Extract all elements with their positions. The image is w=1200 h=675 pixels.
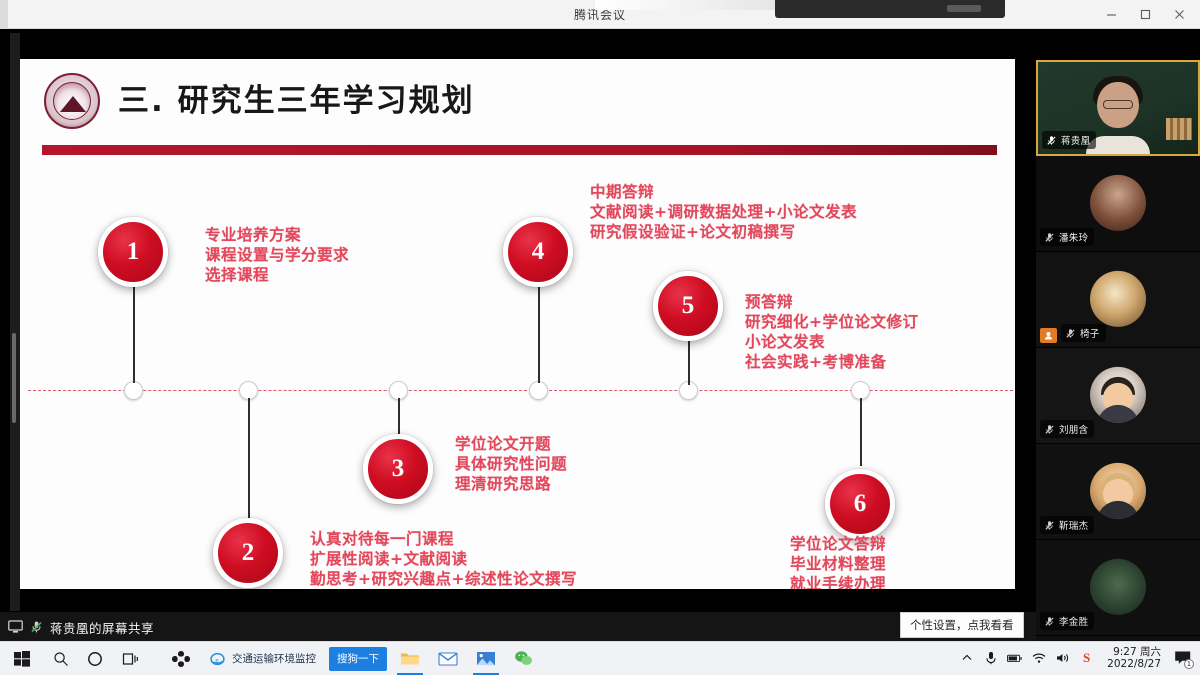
windows-start-icon[interactable] bbox=[0, 642, 44, 675]
participant-name-chip-4: 刘朋含 bbox=[1040, 420, 1094, 438]
taskbar-clock[interactable]: 9:27 周六 2022/8/27 bbox=[1107, 646, 1161, 670]
ie-tab-label: 交通运输环境监控 bbox=[232, 651, 316, 666]
active-window-tab[interactable]: 搜狗一下 bbox=[329, 647, 387, 671]
avatar-body bbox=[1097, 500, 1139, 518]
titlebar-overlay-chip-inner bbox=[947, 5, 981, 12]
participant-name-chip-2: 潘朱玲 bbox=[1040, 228, 1094, 246]
milestone-3-line-3: 理清研究思路 bbox=[455, 474, 567, 494]
titlebar-left-edge bbox=[0, 0, 8, 29]
monitor-icon bbox=[8, 620, 23, 634]
share-status-text: 蒋贵凰的屏幕共享 bbox=[50, 618, 154, 637]
milestone-circle-2[interactable]: 2 bbox=[213, 518, 283, 588]
participant-name-1: 蒋贵凰 bbox=[1061, 133, 1090, 147]
milestone-circle-1[interactable]: 1 bbox=[98, 217, 168, 287]
stage-left-edge bbox=[10, 33, 20, 611]
participant-tile-3[interactable]: 椅子 bbox=[1036, 252, 1200, 348]
slide-title: 三. 研究生三年学习规划 bbox=[118, 75, 475, 120]
milestone-4-line-1: 中期答辩 bbox=[590, 182, 857, 202]
clock-time: 9:27 周六 bbox=[1113, 646, 1161, 658]
milestone-2-line-2: 扩展性阅读+文献阅读 bbox=[310, 549, 577, 569]
battery-icon[interactable] bbox=[1007, 651, 1022, 666]
milestone-4-line-2: 文献阅读+调研数据处理+小论文发表 bbox=[590, 202, 857, 222]
system-tray: S 9:27 周六 2022/8/27 1 bbox=[959, 641, 1200, 675]
glasses-icon bbox=[1103, 100, 1133, 109]
milestone-circle-6[interactable]: 6 bbox=[825, 469, 895, 539]
crest-mountain-mark bbox=[60, 96, 86, 112]
mic-muted-icon bbox=[1046, 135, 1057, 146]
participant-name-chip-1: 蒋贵凰 bbox=[1042, 131, 1096, 149]
task-view-icon[interactable] bbox=[112, 642, 148, 675]
window-controls bbox=[1094, 0, 1196, 29]
milestone-circle-4[interactable]: 4 bbox=[503, 217, 573, 287]
shared-screen-stage: 三. 研究生三年学习规划 1 2 bbox=[10, 33, 1030, 611]
milestone-3-line-1: 学位论文开题 bbox=[455, 434, 567, 454]
screen-root: 腾讯会议 bbox=[0, 0, 1200, 675]
connector-1 bbox=[133, 287, 135, 383]
mic-muted-icon bbox=[1044, 232, 1055, 243]
milestone-number-3: 3 bbox=[392, 455, 405, 483]
connector-4 bbox=[538, 287, 540, 383]
bookshelf-decor bbox=[1166, 118, 1192, 140]
active-window-label: 搜狗一下 bbox=[337, 651, 379, 666]
network-icon[interactable] bbox=[1031, 651, 1046, 666]
clock-date: 2022/8/27 bbox=[1107, 658, 1161, 670]
titlebar-overlay-chip bbox=[775, 0, 1005, 18]
window-titlebar: 腾讯会议 bbox=[0, 0, 1200, 29]
open-indicator bbox=[473, 673, 499, 675]
slide-header: 三. 研究生三年学习规划 bbox=[20, 59, 1015, 139]
connector-6 bbox=[860, 398, 862, 466]
stage-scroll-nub[interactable] bbox=[12, 333, 16, 423]
participant-name-chip-6: 李金胜 bbox=[1040, 612, 1094, 630]
avatar bbox=[1090, 174, 1146, 230]
avatar bbox=[1090, 462, 1146, 518]
participant-rail: 蒋贵凰 潘朱玲 bbox=[1036, 60, 1200, 642]
participant-tile-5[interactable]: 靳瑞杰 bbox=[1036, 444, 1200, 540]
milestone-3-line-2: 具体研究性问题 bbox=[455, 454, 567, 474]
avatar bbox=[1090, 270, 1146, 326]
notification-center-icon[interactable]: 1 bbox=[1174, 650, 1192, 666]
milestone-6-line-3: 就业手续办理 bbox=[790, 574, 886, 589]
university-crest-icon bbox=[44, 73, 100, 129]
participant-tile-4[interactable]: 刘朋含 bbox=[1036, 348, 1200, 444]
slide-title-rule bbox=[42, 145, 997, 155]
milestone-text-4: 中期答辩 文献阅读+调研数据处理+小论文发表 研究假设验证+论文初稿撰写 bbox=[590, 182, 857, 242]
milestone-2-line-3: 勤思考+研究兴趣点+综述性论文撰写 bbox=[310, 569, 577, 589]
sogou-icon[interactable] bbox=[162, 642, 200, 675]
milestone-text-3: 学位论文开题 具体研究性问题 理清研究思路 bbox=[455, 434, 567, 494]
milestone-number-1: 1 bbox=[127, 238, 140, 266]
milestone-number-6: 6 bbox=[854, 490, 867, 518]
connector-5 bbox=[688, 341, 690, 385]
open-indicator bbox=[397, 673, 423, 675]
presentation-slide: 三. 研究生三年学习规划 1 2 bbox=[20, 59, 1015, 589]
milestone-2-line-1: 认真对待每一门课程 bbox=[310, 529, 577, 549]
avatar bbox=[1090, 558, 1146, 614]
ime-tooltip[interactable]: 个性设置，点我看看 bbox=[900, 612, 1024, 638]
axis-node-4 bbox=[529, 381, 548, 400]
milestone-1-line-1: 专业培养方案 bbox=[205, 225, 349, 245]
mic-muted-icon bbox=[1044, 424, 1055, 435]
tray-chevron-icon[interactable] bbox=[959, 651, 974, 666]
milestone-4-line-3: 研究假设验证+论文初稿撰写 bbox=[590, 222, 857, 242]
milestone-text-5: 预答辩 研究细化+学位论文修订 小论文发表 社会实践+考博准备 bbox=[745, 292, 919, 372]
participant-name-5: 靳瑞杰 bbox=[1059, 518, 1088, 532]
close-button[interactable] bbox=[1162, 0, 1196, 29]
avatar-body bbox=[1097, 404, 1139, 422]
milestone-5-line-1: 预答辩 bbox=[745, 292, 919, 312]
participant-name-6: 李金胜 bbox=[1059, 614, 1088, 628]
milestone-5-line-4: 社会实践+考博准备 bbox=[745, 352, 919, 372]
participant-tile-6[interactable]: 李金胜 bbox=[1036, 540, 1200, 636]
participant-name-2: 潘朱玲 bbox=[1059, 230, 1088, 244]
mic-muted-icon bbox=[1065, 328, 1076, 339]
notification-count: 1 bbox=[1184, 659, 1194, 669]
milestone-number-4: 4 bbox=[532, 238, 545, 266]
mic-muted-icon bbox=[1044, 520, 1055, 531]
photos-icon[interactable] bbox=[467, 642, 505, 675]
milestone-circle-5[interactable]: 5 bbox=[653, 271, 723, 341]
milestone-text-2: 认真对待每一门课程 扩展性阅读+文献阅读 勤思考+研究兴趣点+综述性论文撰写 bbox=[310, 529, 577, 589]
participant-name-3: 椅子 bbox=[1080, 326, 1100, 340]
milestone-1-line-2: 课程设置与学分要求 bbox=[205, 245, 349, 265]
milestone-6-line-1: 学位论文答辩 bbox=[790, 534, 886, 554]
folder-icon[interactable] bbox=[391, 642, 429, 675]
cortana-icon[interactable] bbox=[78, 642, 112, 675]
participant-name-chip-5: 靳瑞杰 bbox=[1040, 516, 1094, 534]
milestone-text-6: 学位论文答辩 毕业材料整理 就业手续办理 bbox=[790, 534, 886, 589]
volume-icon[interactable] bbox=[1055, 651, 1070, 666]
wechat-icon[interactable] bbox=[505, 642, 542, 675]
axis-node-1 bbox=[124, 381, 143, 400]
host-badge-icon bbox=[1040, 328, 1057, 343]
maximize-button[interactable] bbox=[1128, 0, 1162, 29]
internet-explorer[interactable]: e 交通运输环境监控 bbox=[200, 642, 325, 675]
milestone-5-line-3: 小论文发表 bbox=[745, 332, 919, 352]
minimize-button[interactable] bbox=[1094, 0, 1128, 29]
meeting-body: 三. 研究生三年学习规划 1 2 bbox=[0, 29, 1200, 675]
mail-icon[interactable] bbox=[429, 642, 467, 675]
mic-muted-icon bbox=[1044, 616, 1055, 627]
milestone-1-line-3: 选择课程 bbox=[205, 265, 349, 285]
milestone-6-line-2: 毕业材料整理 bbox=[790, 554, 886, 574]
share-status-bar: 蒋贵凰的屏幕共享 bbox=[0, 612, 1036, 642]
mic-icon[interactable] bbox=[983, 651, 998, 666]
participant-tile-1[interactable]: 蒋贵凰 bbox=[1036, 60, 1200, 156]
search-icon[interactable] bbox=[44, 642, 78, 675]
titlebar-gradient bbox=[595, 0, 795, 10]
crest-inner bbox=[53, 82, 91, 120]
milestone-number-5: 5 bbox=[682, 292, 695, 320]
milestone-circle-3[interactable]: 3 bbox=[363, 434, 433, 504]
mic-muted-icon bbox=[29, 620, 44, 634]
milestone-number-2: 2 bbox=[242, 539, 255, 567]
milestone-text-1: 专业培养方案 课程设置与学分要求 选择课程 bbox=[205, 225, 349, 285]
participant-tile-2[interactable]: 潘朱玲 bbox=[1036, 156, 1200, 252]
participant-name-chip-3: 椅子 bbox=[1061, 324, 1106, 342]
participant-name-4: 刘朋含 bbox=[1059, 422, 1088, 436]
milestone-5-line-2: 研究细化+学位论文修订 bbox=[745, 312, 919, 332]
avatar bbox=[1090, 366, 1146, 422]
sogou-tray-icon[interactable]: S bbox=[1079, 651, 1094, 666]
